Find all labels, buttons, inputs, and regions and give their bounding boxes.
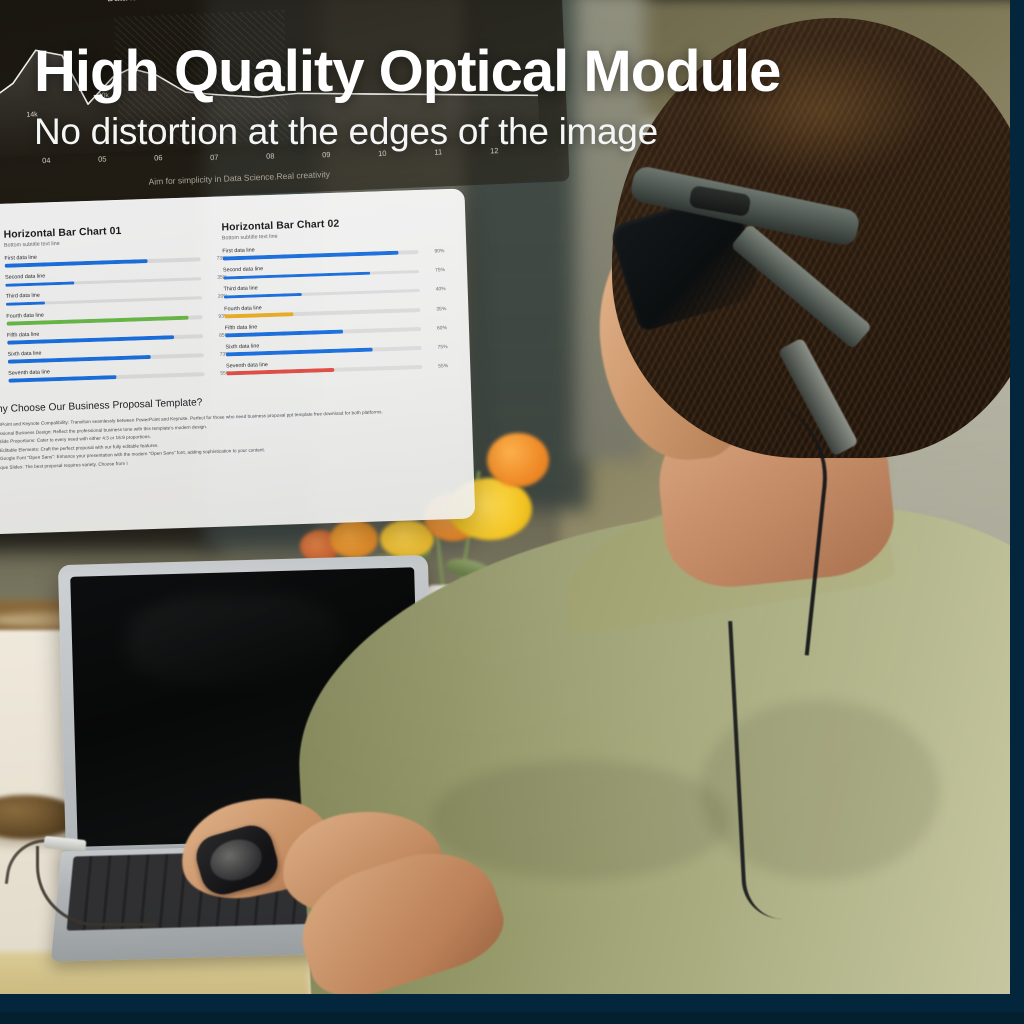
- ar-bar-chart-panel[interactable]: Horizontal Bar Chart 01 Bottom subtitle …: [0, 188, 475, 537]
- bar-row: Fourth data line93%: [6, 307, 202, 325]
- bar-chart-01[interactable]: Horizontal Bar Chart 01 Bottom subtitle …: [3, 223, 204, 390]
- bar-row: Sixth data line73%: [8, 345, 204, 363]
- frame-border-right: [1010, 0, 1024, 1024]
- bar-row: Sixth data line75%: [225, 338, 421, 356]
- bar-row-percent: 60%: [437, 325, 447, 331]
- bar-row-fill: [5, 281, 74, 287]
- bar-chart-01-rows: First data line73%Second data line35%Thi…: [4, 249, 204, 382]
- bar-row: Fifth data line85%: [7, 326, 203, 344]
- bar-chart-columns: Horizontal Bar Chart 01 Bottom subtitle …: [0, 188, 471, 401]
- bar-row-fill: [8, 376, 116, 383]
- bar-row-fill: [226, 368, 334, 375]
- screenshot-root: Area Chart 01 Data is what tells you whe…: [0, 0, 1024, 1024]
- bar-row-percent: 75%: [438, 344, 448, 350]
- proposal-lines: PowerPoint and Keynote Compatibility: Tr…: [0, 406, 455, 472]
- area-chart-subtitle: Data is what tells you where you are and…: [107, 0, 356, 4]
- bar-row: Third data line20%: [6, 288, 202, 306]
- proposal-section: Why Choose Our Business Proposal Templat…: [0, 383, 473, 476]
- bar-row: Second data line75%: [223, 261, 419, 279]
- bar-row: Seventh data line55%: [8, 364, 204, 382]
- bar-row-fill: [224, 312, 293, 318]
- bar-row-fill: [6, 301, 45, 306]
- bar-row-percent: 35%: [436, 306, 446, 312]
- hero-subheadline: No distortion at the edges of the image: [34, 111, 934, 153]
- hero-text-block: High Quality Optical Module No distortio…: [34, 42, 934, 153]
- frame-border-bottom-inner: [0, 1012, 1024, 1024]
- x-axis-tick: 07: [210, 152, 219, 161]
- bar-row-percent: 90%: [434, 248, 444, 254]
- bar-chart-02[interactable]: Horizontal Bar Chart 02 Bottom subtitle …: [221, 216, 422, 383]
- bar-row: First data line90%: [222, 242, 418, 260]
- bar-row-fill: [224, 293, 302, 299]
- bar-row-percent: 40%: [436, 286, 446, 292]
- area-chart-footer: Aim for simplicity in Data Science.Real …: [148, 169, 330, 187]
- bar-row: First data line73%: [4, 249, 200, 267]
- x-axis-tick: 06: [154, 154, 163, 163]
- bar-row: Seventh data line55%: [226, 357, 422, 375]
- x-axis-tick: 04: [42, 156, 51, 165]
- bar-row-percent: 75%: [435, 267, 445, 273]
- bar-row: Third data line40%: [223, 280, 419, 298]
- bar-chart-02-rows: First data line90%Second data line75%Thi…: [222, 242, 422, 375]
- x-axis-tick: 05: [98, 155, 107, 164]
- hero-headline: High Quality Optical Module: [34, 42, 934, 103]
- bar-row: Fourth data line35%: [224, 300, 420, 318]
- bar-row: Fifth data line60%: [225, 319, 421, 337]
- bar-row-percent: 55%: [438, 363, 448, 369]
- bar-row: Second data line35%: [5, 268, 201, 286]
- bar-row-fill: [225, 330, 343, 337]
